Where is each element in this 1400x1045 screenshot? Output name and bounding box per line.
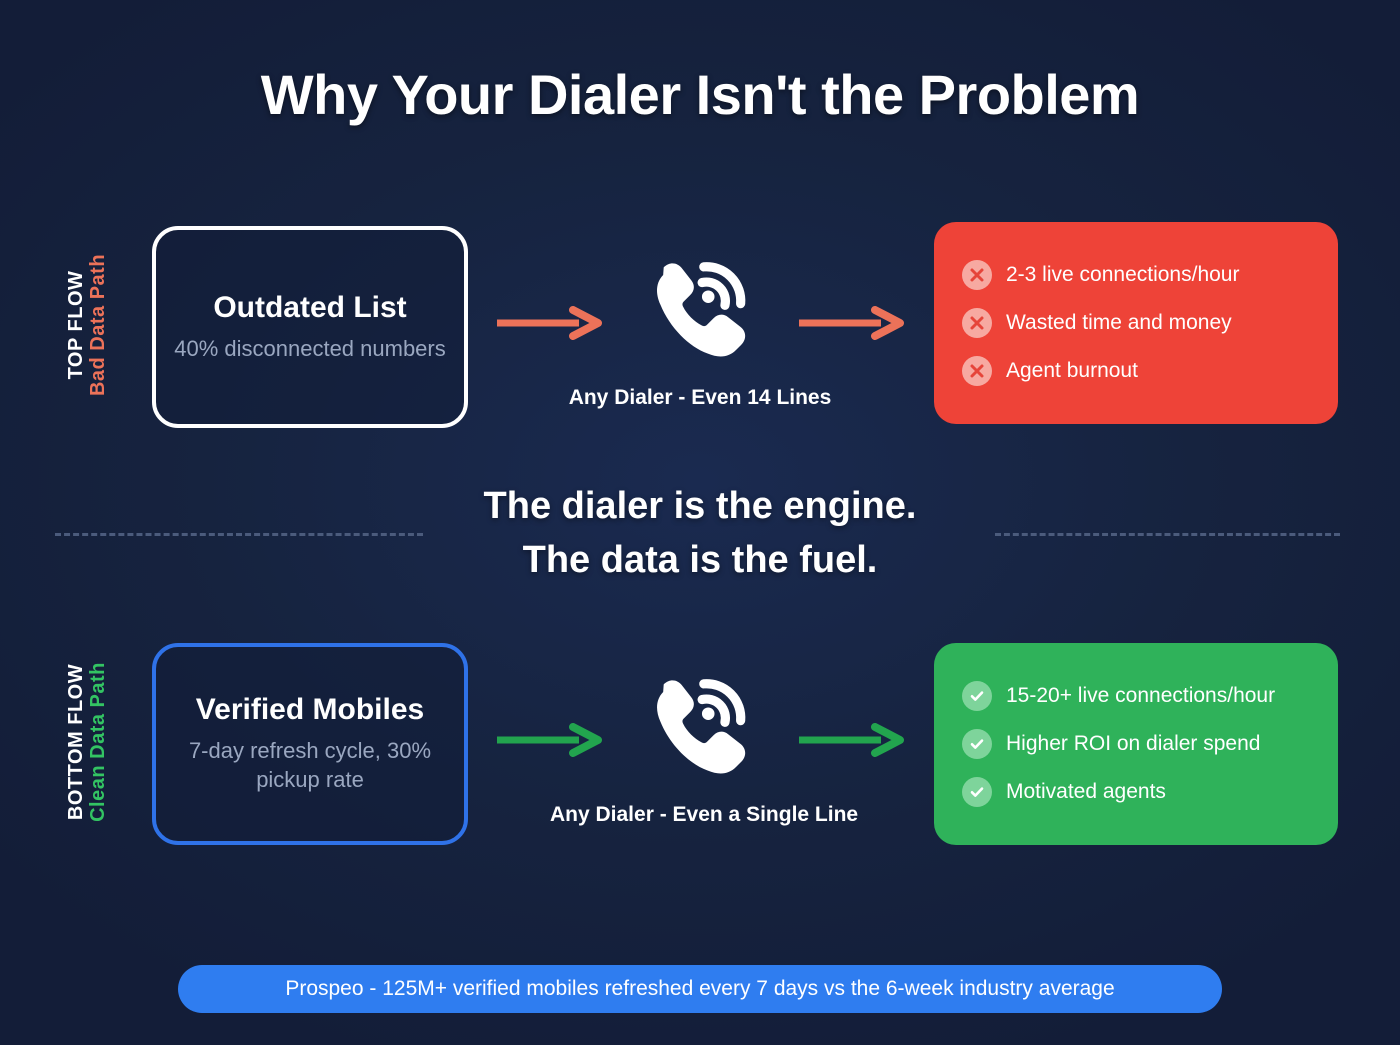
- circle-check-icon: [962, 681, 992, 711]
- footer-banner-text: Prospeo - 125M+ verified mobiles refresh…: [285, 977, 1114, 1001]
- bottom-dialer-block: Any Dialer - Even a Single Line: [550, 660, 850, 827]
- bad-result-text: Agent burnout: [1006, 359, 1138, 383]
- bottom-flow-label-text: BOTTOM FLOW: [65, 664, 87, 820]
- good-result-row: Motivated agents: [962, 768, 1338, 816]
- good-result-text: 15-20+ live connections/hour: [1006, 684, 1275, 708]
- phone-ringing-icon: [635, 660, 765, 790]
- good-result-text: Motivated agents: [1006, 780, 1166, 804]
- statement-line-2: The data is the fuel.: [0, 534, 1400, 588]
- circle-check-icon: [962, 729, 992, 759]
- bad-result-row: 2-3 live connections/hour: [962, 251, 1338, 299]
- verified-mobiles-card-subtitle: 7-day refresh cycle, 30% pickup rate: [156, 737, 464, 794]
- bad-result-text: 2-3 live connections/hour: [1006, 263, 1239, 287]
- good-result-row: 15-20+ live connections/hour: [962, 672, 1338, 720]
- bad-data-path-label-text: Bad Data Path: [87, 254, 109, 396]
- clean-data-path-side-label: Clean Data Path: [87, 627, 127, 857]
- circle-check-icon: [962, 777, 992, 807]
- bottom-dialer-caption: Any Dialer - Even a Single Line: [550, 803, 850, 827]
- bad-result-text: Wasted time and money: [1006, 311, 1232, 335]
- circle-x-icon: [962, 356, 992, 386]
- page-title: Why Your Dialer Isn't the Problem: [0, 66, 1400, 125]
- infographic-canvas: Why Your Dialer Isn't the Problem TOP FL…: [0, 0, 1400, 1045]
- good-result-text: Higher ROI on dialer spend: [1006, 732, 1260, 756]
- footer-banner: Prospeo - 125M+ verified mobiles refresh…: [178, 965, 1222, 1013]
- verified-mobiles-card-title: Verified Mobiles: [196, 693, 424, 727]
- statement-line-1: The dialer is the engine.: [0, 480, 1400, 534]
- bad-data-path-side-label: Bad Data Path: [87, 210, 127, 440]
- bad-result-row: Agent burnout: [962, 347, 1338, 395]
- circle-x-icon: [962, 260, 992, 290]
- verified-mobiles-card: Verified Mobiles 7-day refresh cycle, 30…: [152, 643, 468, 845]
- top-flow-label-text: TOP FLOW: [65, 271, 87, 380]
- outdated-list-card-title: Outdated List: [213, 291, 406, 325]
- outdated-list-card: Outdated List 40% disconnected numbers: [152, 226, 468, 428]
- circle-x-icon: [962, 308, 992, 338]
- phone-ringing-icon: [635, 243, 765, 373]
- outdated-list-card-subtitle: 40% disconnected numbers: [158, 335, 462, 364]
- center-statement: The dialer is the engine. The data is th…: [0, 480, 1400, 588]
- top-dialer-caption: Any Dialer - Even 14 Lines: [550, 386, 850, 410]
- clean-data-path-label-text: Clean Data Path: [87, 662, 109, 822]
- bad-results-box: 2-3 live connections/hour Wasted time an…: [934, 222, 1338, 424]
- good-result-row: Higher ROI on dialer spend: [962, 720, 1338, 768]
- top-dialer-block: Any Dialer - Even 14 Lines: [550, 243, 850, 410]
- good-results-box: 15-20+ live connections/hour Higher ROI …: [934, 643, 1338, 845]
- bad-result-row: Wasted time and money: [962, 299, 1338, 347]
